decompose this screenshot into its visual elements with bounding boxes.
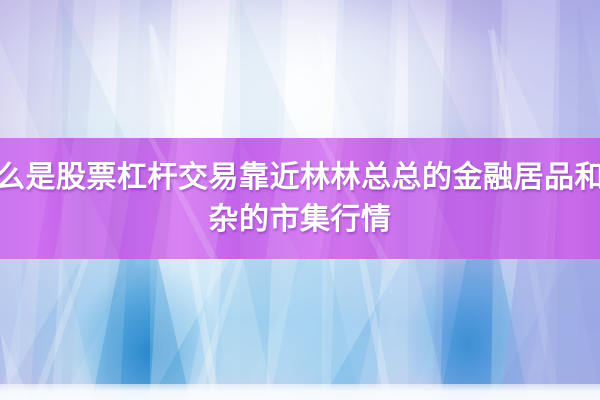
headline-line-2: 杂的市集行情 [209, 199, 392, 241]
footer-strip [0, 384, 600, 400]
headline-line-1: 什么是股票杠杆交易靠近林林总总的金融居品和复 [0, 157, 600, 199]
decorative-banner: 什么是股票杠杆交易靠近林林总总的金融居品和复 杂的市集行情 [0, 0, 600, 400]
headline-text: 什么是股票杠杆交易靠近林林总总的金融居品和复 杂的市集行情 [0, 138, 600, 259]
